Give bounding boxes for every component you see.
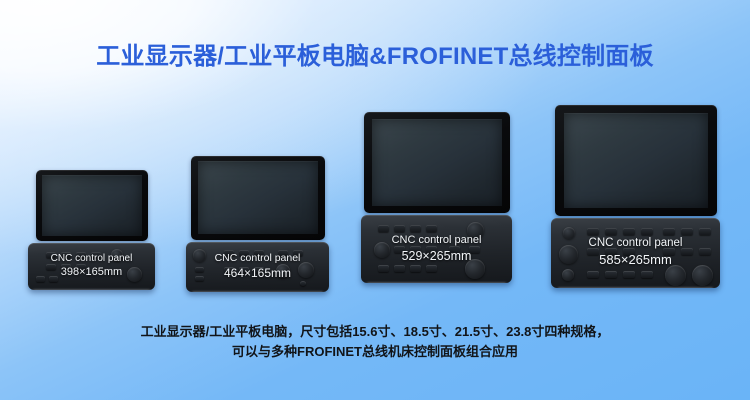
panel-knob[interactable] (374, 242, 390, 258)
monitor-bezel (364, 112, 510, 213)
panel-key[interactable] (681, 228, 693, 235)
panel-knob[interactable] (276, 264, 290, 278)
panel-key[interactable] (224, 267, 234, 273)
panel-key[interactable] (426, 265, 437, 272)
panel-key[interactable] (681, 248, 693, 255)
control-panel[interactable]: CNC control panel 464×165mm (186, 242, 329, 292)
panel-key[interactable] (663, 228, 675, 235)
control-panel[interactable]: CNC control panel 585×265mm (551, 218, 720, 288)
panel-key[interactable] (623, 228, 635, 235)
panel-key[interactable] (293, 250, 303, 256)
promo-banner: 工业显示器/工业平板电脑&FROFINET总线控制面板 (0, 0, 750, 400)
panel-key[interactable] (36, 276, 45, 282)
monitor-bezel (191, 156, 325, 240)
panel-key[interactable] (195, 267, 204, 272)
panel-key[interactable] (378, 265, 389, 272)
footer-description: 工业显示器/工业平板电脑，尺寸包括15.6寸、18.5寸、21.5寸、23.8寸… (0, 322, 750, 362)
panel-key[interactable] (410, 265, 421, 272)
panel-key[interactable] (378, 225, 389, 232)
panel-key[interactable] (641, 271, 653, 278)
panel-knob[interactable] (111, 249, 123, 261)
panel-knob[interactable] (563, 227, 575, 239)
panel-key[interactable] (699, 248, 711, 255)
panel-key[interactable] (587, 271, 599, 278)
panel-key[interactable] (587, 228, 599, 235)
panel-key[interactable] (61, 252, 71, 258)
panel-knob[interactable] (562, 269, 574, 281)
panel-key[interactable] (426, 246, 437, 253)
monitor-bezel (555, 105, 717, 216)
device-21-5-inch[interactable]: CNC control panel 529×265mm (361, 112, 512, 283)
control-panel[interactable]: CNC control panel 398×165mm (28, 243, 155, 290)
panel-key[interactable] (699, 228, 711, 235)
panel-knob[interactable] (559, 245, 578, 264)
panel-key[interactable] (46, 264, 56, 270)
panel-key[interactable] (605, 228, 617, 235)
panel-key[interactable] (623, 271, 635, 278)
display-screen (372, 119, 502, 206)
panel-key[interactable] (469, 246, 480, 253)
panel-key[interactable] (239, 267, 249, 273)
footer-line-2: 可以与多种FROFINET总线机床控制面板组合应用 (0, 342, 750, 362)
device-lineup: CNC control panel 398×165mm (0, 0, 750, 330)
device-18-5-inch[interactable]: CNC control panel 464×165mm (186, 156, 329, 292)
monitor-bezel (36, 170, 148, 241)
panel-key[interactable] (641, 228, 653, 235)
panel-key[interactable] (605, 248, 617, 255)
panel-key[interactable] (410, 225, 421, 232)
panel-key[interactable] (394, 265, 405, 272)
panel-key[interactable] (410, 246, 421, 253)
display-screen (564, 113, 708, 208)
panel-key[interactable] (239, 250, 249, 256)
panel-key[interactable] (623, 248, 635, 255)
panel-key[interactable] (394, 225, 405, 232)
footer-line-1: 工业显示器/工业平板电脑，尺寸包括15.6寸、18.5寸、21.5寸、23.8寸… (0, 322, 750, 342)
panel-key[interactable] (224, 250, 234, 256)
panel-buttons (28, 243, 155, 290)
panel-key[interactable] (46, 252, 56, 258)
panel-knob[interactable] (193, 249, 206, 262)
panel-key[interactable] (195, 276, 204, 281)
panel-key[interactable] (663, 248, 675, 255)
panel-key[interactable] (278, 250, 288, 256)
panel-knob[interactable] (298, 262, 314, 278)
panel-key[interactable] (449, 246, 460, 253)
panel-key[interactable] (300, 281, 306, 286)
panel-key[interactable] (605, 271, 617, 278)
panel-key[interactable] (76, 252, 86, 258)
panel-buttons (361, 215, 512, 283)
panel-knob[interactable] (467, 222, 484, 239)
panel-key[interactable] (49, 276, 58, 282)
panel-key[interactable] (254, 267, 264, 273)
panel-knob[interactable] (692, 265, 713, 286)
panel-key[interactable] (61, 264, 71, 270)
panel-key[interactable] (587, 248, 599, 255)
panel-key[interactable] (394, 246, 405, 253)
panel-knob[interactable] (665, 265, 686, 286)
device-23-8-inch[interactable]: CNC control panel 585×265mm (551, 105, 720, 288)
panel-knob[interactable] (127, 267, 142, 282)
panel-key[interactable] (76, 264, 86, 270)
display-screen (42, 175, 142, 236)
panel-buttons (551, 218, 720, 288)
device-15-6-inch[interactable]: CNC control panel 398×165mm (28, 170, 155, 290)
display-screen (198, 161, 318, 234)
panel-key[interactable] (426, 225, 437, 232)
panel-buttons (186, 242, 329, 292)
panel-key[interactable] (91, 252, 101, 258)
panel-key[interactable] (254, 250, 264, 256)
control-panel[interactable]: CNC control panel 529×265mm (361, 215, 512, 283)
panel-knob[interactable] (465, 259, 485, 279)
